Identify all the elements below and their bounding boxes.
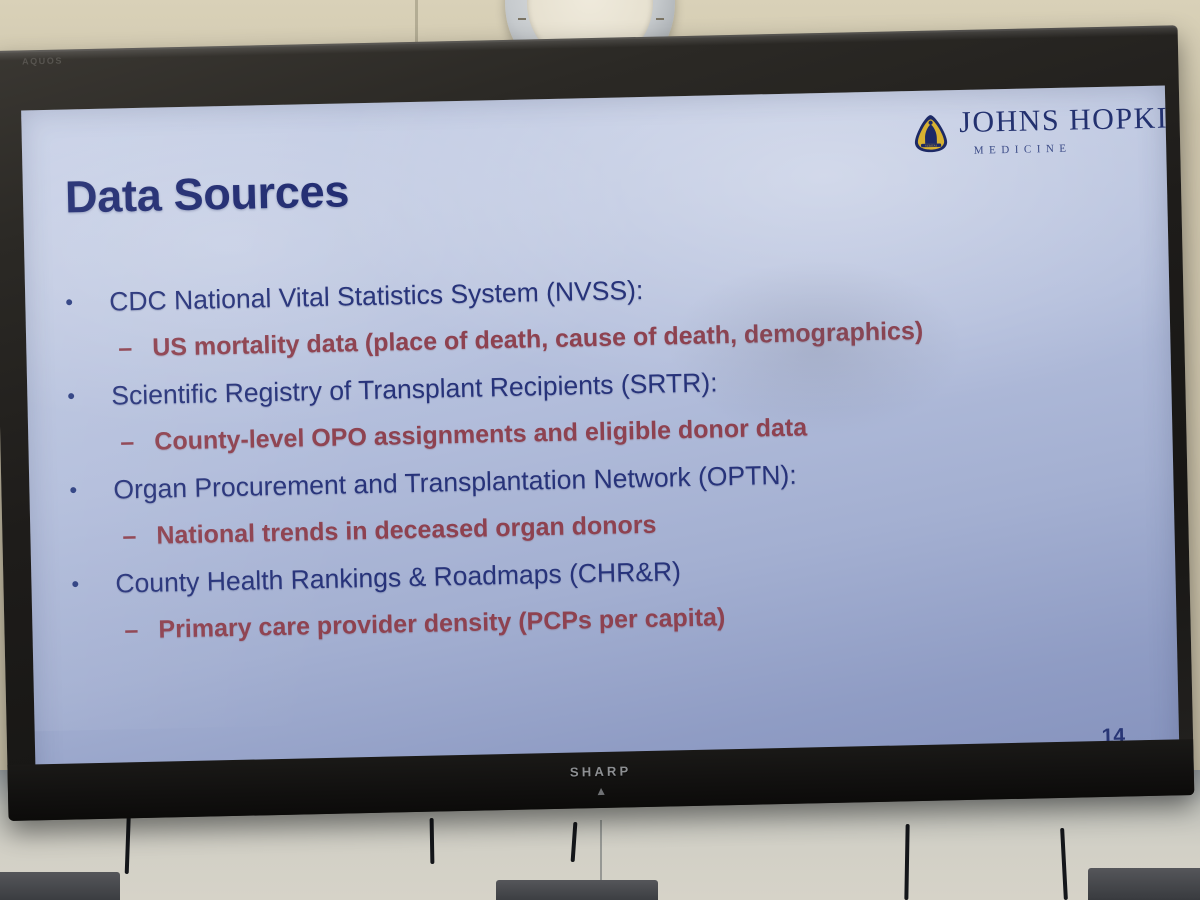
- bullet-dash-icon: –: [120, 420, 155, 465]
- johns-hopkins-shield-icon: VERITAS: [909, 112, 952, 155]
- bullet-dash-icon: –: [122, 514, 157, 559]
- logo-primary-text: JOHNS HOPKINS: [959, 103, 1180, 138]
- bullet-dot-icon: •: [57, 373, 112, 420]
- logo-wordmark: JOHNS HOPKINS MEDICINE: [959, 103, 1180, 157]
- bullet-dash-icon: –: [118, 326, 153, 371]
- bullet-list: •CDC National Vital Statistics System (N…: [55, 257, 1123, 656]
- page-title: Data Sources: [64, 165, 349, 223]
- bullet-dot-icon: •: [61, 561, 116, 608]
- tv-bezel: AQUOS Data Sources VERITAS: [0, 25, 1194, 821]
- tv-screen[interactable]: Data Sources VERITAS: [21, 86, 1180, 801]
- television: AQUOS Data Sources VERITAS: [0, 1, 1200, 839]
- bottom-object-right: [1088, 868, 1200, 900]
- aquos-logo: AQUOS: [22, 56, 63, 67]
- bottom-object-center: [496, 880, 658, 900]
- johns-hopkins-medicine-logo: VERITAS JOHNS HOPKINS MEDICINE: [909, 103, 1180, 159]
- logo-secondary-text: MEDICINE: [974, 140, 1180, 157]
- presentation-slide: Data Sources VERITAS: [21, 86, 1180, 801]
- bullet-dot-icon: •: [59, 467, 114, 514]
- bottom-object-left: [0, 872, 120, 900]
- bullet-dash-icon: –: [124, 608, 159, 653]
- bezel-highlight: [0, 25, 1178, 61]
- svg-text:VERITAS: VERITAS: [925, 144, 938, 148]
- bullet-dot-icon: •: [55, 279, 110, 326]
